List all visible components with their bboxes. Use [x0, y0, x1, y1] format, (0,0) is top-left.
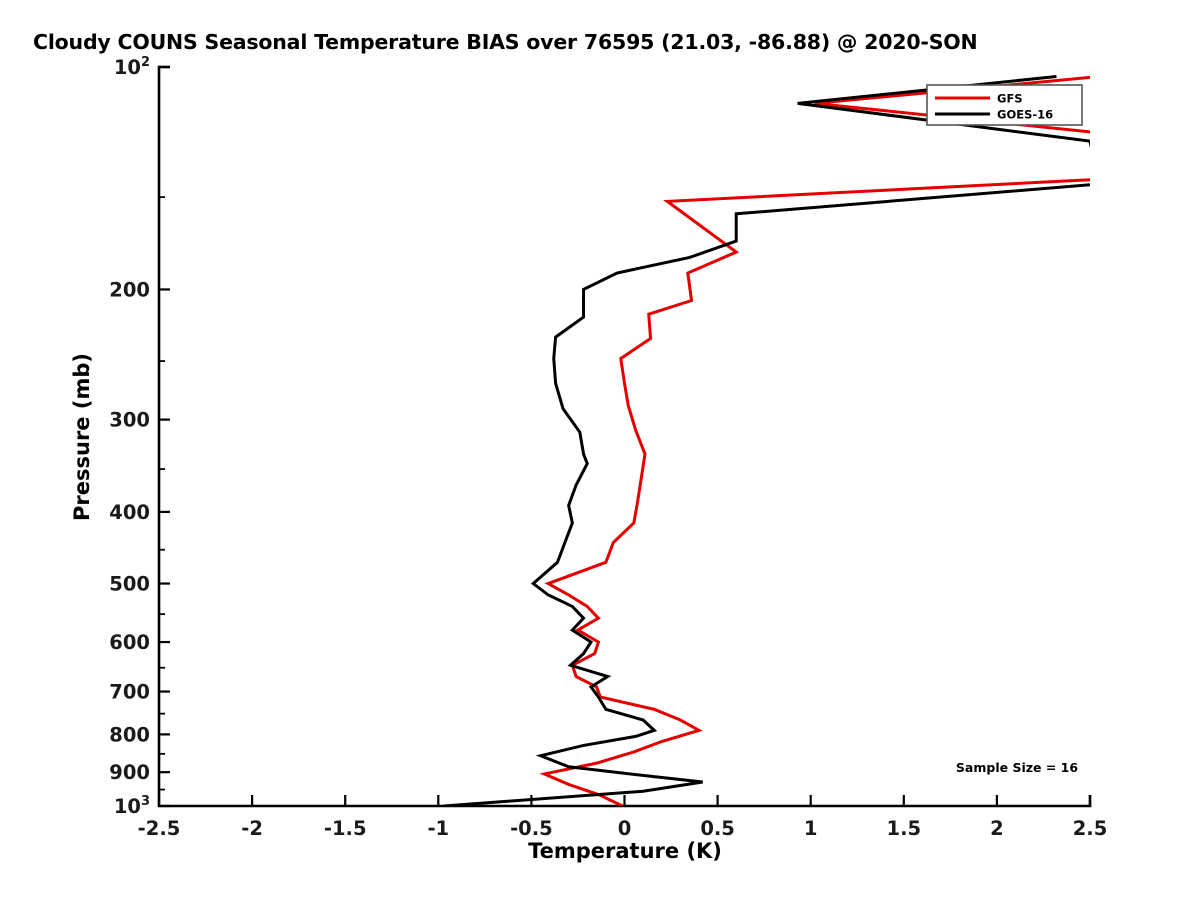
x-tick-label: 1.5 — [887, 817, 922, 840]
series-line-goes-16 — [444, 76, 1099, 806]
y-axis-title-text: Pressure (mb) — [70, 353, 94, 521]
legend-label-gfs: GFS — [997, 92, 1023, 106]
x-tick-label: 2 — [990, 817, 1004, 840]
y-axis-title: Pressure (mb) — [70, 353, 94, 521]
y-tick-label: 400 — [109, 501, 150, 524]
x-tick-label: -2 — [241, 817, 263, 840]
y-tick-label: 200 — [109, 278, 150, 301]
chart-page: Cloudy COUNS Seasonal Temperature BIAS o… — [0, 0, 1200, 900]
legend-label-goes-16: GOES-16 — [997, 108, 1053, 122]
series-layer — [444, 76, 1105, 806]
legend[interactable]: GFSGOES-16 — [927, 85, 1082, 125]
y-tick-label: 300 — [109, 409, 150, 432]
plot-area: -2.5-2-1.5-1-0.500.511.522.5 10220030040… — [0, 0, 1200, 900]
y-tick-label: 800 — [109, 723, 150, 746]
y-tick-label: 103 — [114, 794, 150, 818]
y-axis-ticks: 102200300400500600700800900103 — [109, 55, 170, 818]
y-tick-label: 900 — [109, 761, 150, 784]
x-axis-title-text: Temperature (K) — [528, 839, 722, 863]
x-tick-label: 0 — [618, 817, 632, 840]
sample-size-text: Sample Size = 16 — [956, 760, 1078, 775]
y-tick-label: 500 — [109, 573, 150, 596]
x-tick-label: -2.5 — [138, 817, 181, 840]
series-line-gfs — [544, 76, 1104, 806]
x-axis-ticks: -2.5-2-1.5-1-0.500.511.522.5 — [138, 795, 1108, 840]
x-tick-label: 1 — [804, 817, 818, 840]
sample-size-annotation: Sample Size = 16 — [956, 760, 1078, 775]
x-axis-title: Temperature (K) — [528, 839, 722, 863]
x-tick-label: -0.5 — [510, 817, 553, 840]
x-tick-label: -1.5 — [324, 817, 367, 840]
x-tick-label: 0.5 — [700, 817, 735, 840]
x-tick-label: -1 — [427, 817, 449, 840]
y-tick-label: 102 — [114, 55, 150, 79]
x-tick-label: 2.5 — [1073, 817, 1108, 840]
axis-frame — [159, 67, 1090, 806]
y-tick-label: 700 — [109, 681, 150, 704]
y-tick-label: 600 — [109, 631, 150, 654]
